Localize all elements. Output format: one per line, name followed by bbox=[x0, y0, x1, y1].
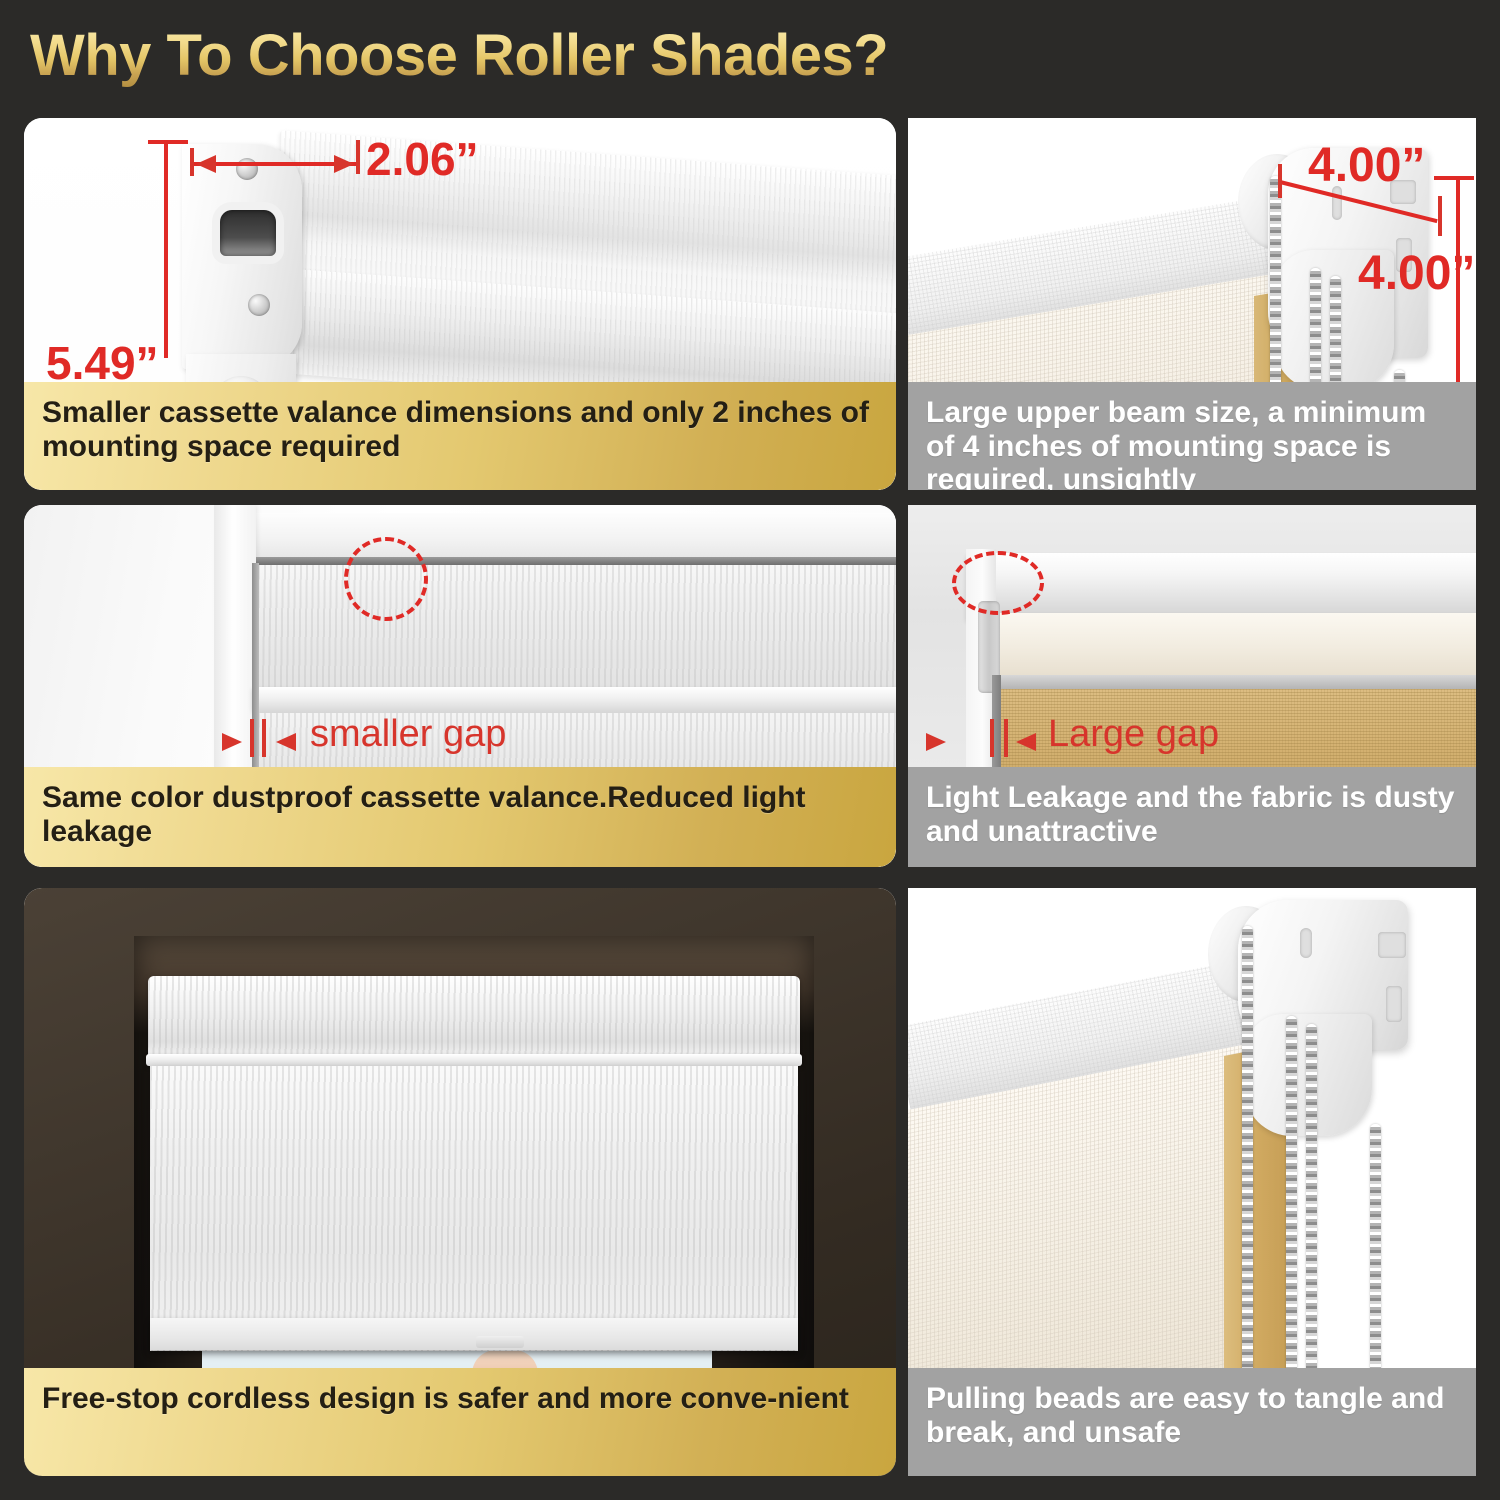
gap-highlight-circle bbox=[344, 537, 428, 621]
panel-pulling-beads-tangle: Pulling beads are easy to tangle and bre… bbox=[908, 888, 1476, 1476]
caption-free-stop-cordless-design: Free-stop cordless design is safer and m… bbox=[24, 1368, 896, 1476]
beam-width-label: 4.00” bbox=[1308, 138, 1425, 193]
bead-chain bbox=[1242, 926, 1253, 1378]
width-dimension-tick-left bbox=[190, 148, 194, 176]
gap-tick-right bbox=[1004, 719, 1008, 757]
panel-free-stop-cordless-design: Free-stop cordless design is safer and m… bbox=[24, 888, 896, 1476]
panel-large-upper-beam: 4.00” 4.00” Large upper beam size, a min… bbox=[908, 118, 1476, 490]
gap-highlight-circle bbox=[952, 551, 1044, 615]
height-dimension-line bbox=[164, 140, 168, 358]
width-arrow-right bbox=[334, 155, 354, 173]
beam-height-label: 4.00” bbox=[1358, 246, 1475, 301]
width-arrow-left bbox=[196, 155, 216, 173]
smaller-gap-label: smaller gap bbox=[310, 713, 506, 756]
caption-cassette-valance-dimensions: Smaller cassette valance dimensions and … bbox=[24, 382, 896, 490]
caption-large-upper-beam: Large upper beam size, a minimum of 4 in… bbox=[908, 382, 1476, 490]
width-dimension-label: 2.06” bbox=[366, 132, 479, 186]
caption-pulling-beads-tangle: Pulling beads are easy to tangle and bre… bbox=[908, 1368, 1476, 1476]
gap-arrow-right bbox=[276, 733, 296, 751]
gap-tick-left bbox=[250, 719, 254, 757]
bead-chain bbox=[1306, 1024, 1317, 1378]
caption-light-leakage-dusty-fabric: Light Leakage and the fabric is dusty an… bbox=[908, 767, 1476, 867]
gap-arrow-left bbox=[926, 733, 946, 751]
bead-chain bbox=[1286, 1016, 1297, 1378]
gap-arrow-left bbox=[222, 733, 242, 751]
beam-width-tick-right bbox=[1438, 196, 1442, 236]
panel-dustproof-cassette-valance: smaller gap Same color dustproof cassett… bbox=[24, 505, 896, 867]
beam-width-tick-left bbox=[1278, 164, 1282, 198]
gap-arrow-right bbox=[1016, 733, 1036, 751]
width-dimension-tick-right bbox=[356, 140, 360, 174]
beam-height-tick-top bbox=[1434, 176, 1474, 180]
large-gap-label: Large gap bbox=[1048, 713, 1219, 756]
panel-light-leakage-dusty-fabric: Large gap Light Leakage and the fabric i… bbox=[908, 505, 1476, 867]
panel-cassette-valance-dimensions: 2.06” 5.49” Smaller cassette valance dim… bbox=[24, 118, 896, 490]
height-dimension-tick-top bbox=[148, 140, 188, 144]
caption-dustproof-cassette-valance: Same color dustproof cassette valance.Re… bbox=[24, 767, 896, 867]
gap-tick-right bbox=[262, 719, 266, 757]
gap-tick-left bbox=[990, 719, 994, 757]
comparison-grid: 2.06” 5.49” Smaller cassette valance dim… bbox=[0, 0, 1500, 1500]
bead-chain bbox=[1370, 1124, 1381, 1378]
bottom-rail-pull-tab bbox=[476, 1336, 524, 1348]
